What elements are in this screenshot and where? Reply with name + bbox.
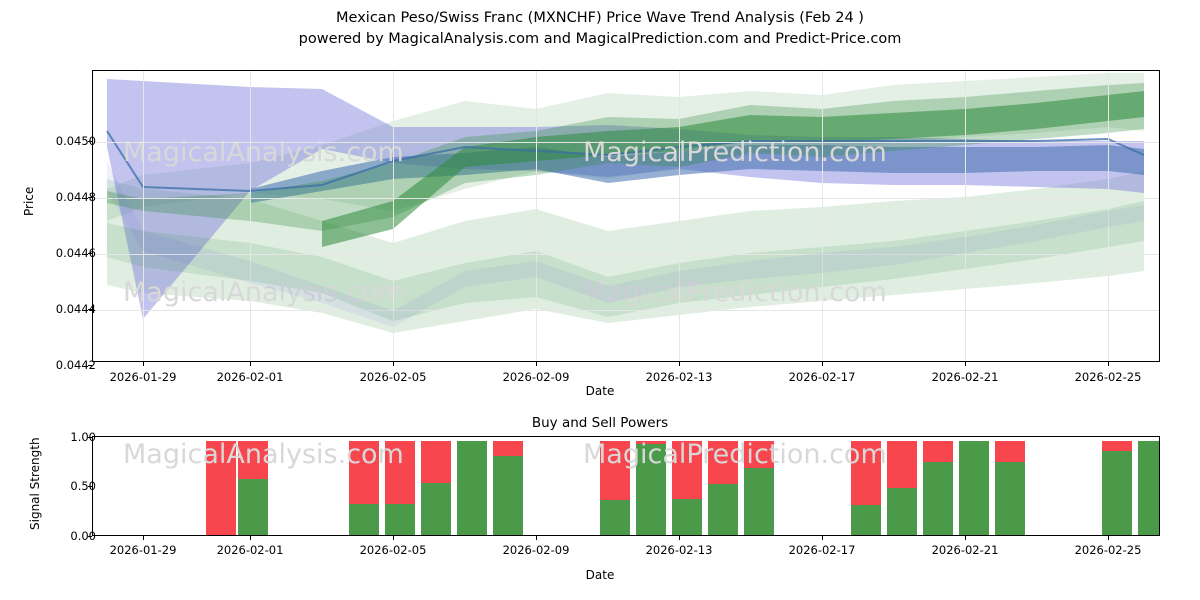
x-axis-label-date-2: Date <box>0 568 1200 582</box>
xtick-label: 2026-02-05 <box>360 543 427 557</box>
xtick-mark <box>1108 362 1109 366</box>
x-axis-label-date: Date <box>0 384 1200 398</box>
xtick-label: 2026-02-25 <box>1075 543 1142 557</box>
xtick-mark <box>536 536 537 540</box>
xtick-label: 2026-02-21 <box>932 543 999 557</box>
xtick-label: 2026-02-01 <box>217 370 284 384</box>
xtick-mark <box>250 536 251 540</box>
ytick-label: 1.00 <box>70 430 96 444</box>
xtick-mark <box>143 362 144 366</box>
chart-page: Mexican Peso/Swiss Franc (MXNCHF) Price … <box>0 0 1200 600</box>
xtick-label: 2026-01-29 <box>110 543 177 557</box>
ytick-mark <box>88 197 92 198</box>
xtick-label: 2026-02-09 <box>503 543 570 557</box>
ytick-mark <box>88 141 92 142</box>
xtick-mark <box>822 362 823 366</box>
wave-band-secondary <box>93 71 1159 361</box>
xtick-mark <box>679 362 680 366</box>
ytick-mark <box>88 365 92 366</box>
buy-sell-powers-chart: MagicalAnalysis.com MagicalPrediction.co… <box>92 436 1160 536</box>
ytick-mark <box>88 253 92 254</box>
xtick-mark <box>679 536 680 540</box>
title-line-2: powered by MagicalAnalysis.com and Magic… <box>0 29 1200 50</box>
ytick-label: 0.50 <box>70 479 96 493</box>
xtick-mark <box>1108 536 1109 540</box>
xtick-label: 2026-02-17 <box>789 370 856 384</box>
price-wave-chart: MagicalAnalysis.com MagicalPrediction.co… <box>92 70 1160 362</box>
xtick-mark <box>965 536 966 540</box>
ytick-mark <box>88 309 92 310</box>
xtick-mark <box>536 362 537 366</box>
xtick-label: 2026-02-01 <box>217 543 284 557</box>
xtick-label: 2026-02-17 <box>789 543 856 557</box>
xtick-mark <box>143 536 144 540</box>
xtick-label: 2026-02-05 <box>360 370 427 384</box>
buy-sell-title: Buy and Sell Powers <box>0 415 1200 431</box>
y-axis-label-price: Price <box>22 187 36 216</box>
xtick-label: 2026-02-21 <box>932 370 999 384</box>
xtick-label: 2026-01-29 <box>110 370 177 384</box>
xtick-mark <box>822 536 823 540</box>
xtick-label: 2026-02-13 <box>646 543 713 557</box>
ytick-mark <box>88 437 92 438</box>
buy-sell-bars <box>93 437 1159 535</box>
xtick-label: 2026-02-25 <box>1075 370 1142 384</box>
xtick-mark <box>965 362 966 366</box>
title-line-1: Mexican Peso/Swiss Franc (MXNCHF) Price … <box>0 8 1200 29</box>
ytick-label: 0.00 <box>70 529 96 543</box>
xtick-mark <box>393 536 394 540</box>
xtick-label: 2026-02-09 <box>503 370 570 384</box>
xtick-mark <box>393 362 394 366</box>
ytick-mark <box>88 486 92 487</box>
xtick-label: 2026-02-13 <box>646 370 713 384</box>
page-title: Mexican Peso/Swiss Franc (MXNCHF) Price … <box>0 8 1200 50</box>
xtick-mark <box>250 362 251 366</box>
y-axis-label-signal-strength: Signal Strength <box>28 437 42 530</box>
ytick-mark <box>88 536 92 537</box>
